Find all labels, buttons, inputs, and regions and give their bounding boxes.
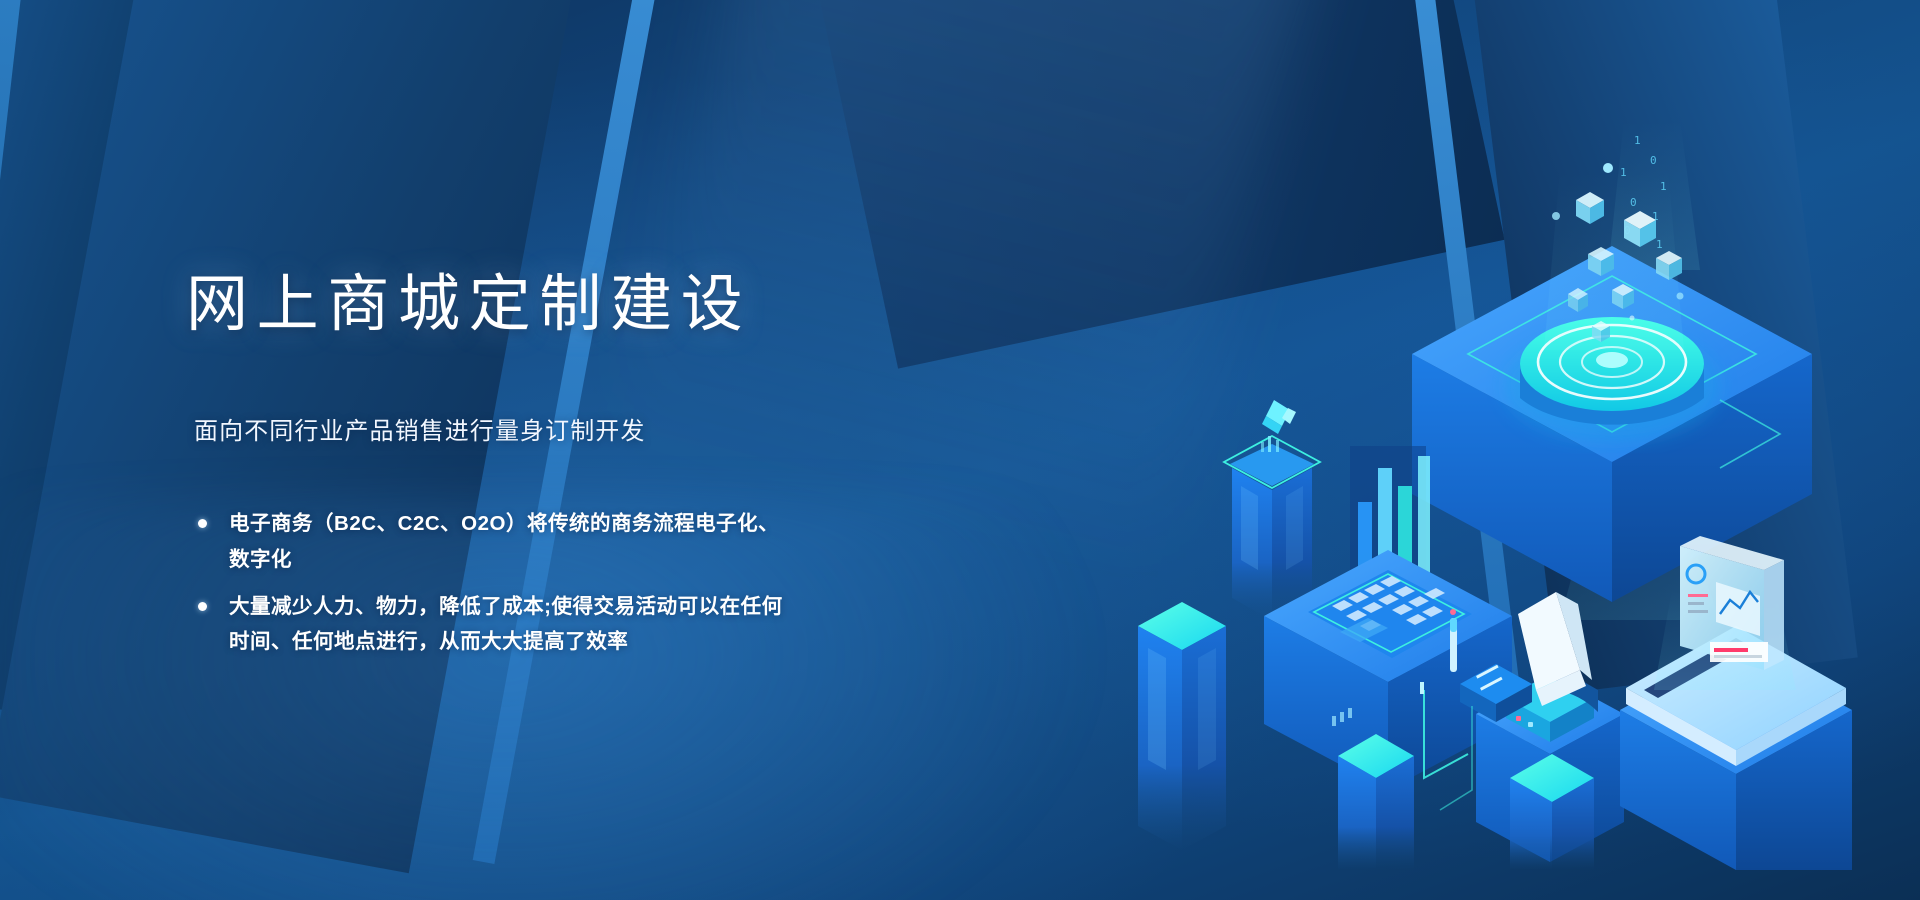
bullet-dot-icon: [198, 519, 207, 528]
list-item: 大量减少人力、物力，降低了成本;使得交易活动可以在任何时间、任何地点进行，从而大…: [196, 589, 826, 660]
list-item-label: 电子商务（B2C、C2C、O2O）将传统的商务流程电子化、数字化: [229, 506, 789, 577]
rocket-launch-tower: [1224, 400, 1320, 620]
data-pillar-mid: [1338, 734, 1414, 870]
dashboard-panel-icon: [1680, 536, 1784, 670]
feature-list: 电子商务（B2C、C2C、O2O）将传统的商务流程电子化、数字化 大量减少人力、…: [196, 506, 826, 659]
page-subtitle: 面向不同行业产品销售进行量身订制开发: [194, 411, 826, 446]
data-pillar-far-right: [1510, 754, 1594, 870]
text-content: 网上商城定制建设 面向不同行业产品销售进行量身订制开发 电子商务（B2C、C2C…: [186, 270, 826, 671]
banner-stage: 网上商城定制建设 面向不同行业产品销售进行量身订制开发 电子商务（B2C、C2C…: [0, 0, 1920, 900]
isometric-illustration: 101 101 01: [1020, 150, 1920, 870]
data-pillar-left: [1138, 602, 1226, 850]
list-item: 电子商务（B2C、C2C、O2O）将传统的商务流程电子化、数字化: [196, 506, 826, 577]
bullet-dot-icon: [198, 602, 207, 611]
page-title: 网上商城定制建设: [186, 270, 826, 339]
list-item-label: 大量减少人力、物力，降低了成本;使得交易活动可以在任何时间、任何地点进行，从而大…: [229, 589, 789, 660]
rocket-icon: [1261, 400, 1296, 452]
